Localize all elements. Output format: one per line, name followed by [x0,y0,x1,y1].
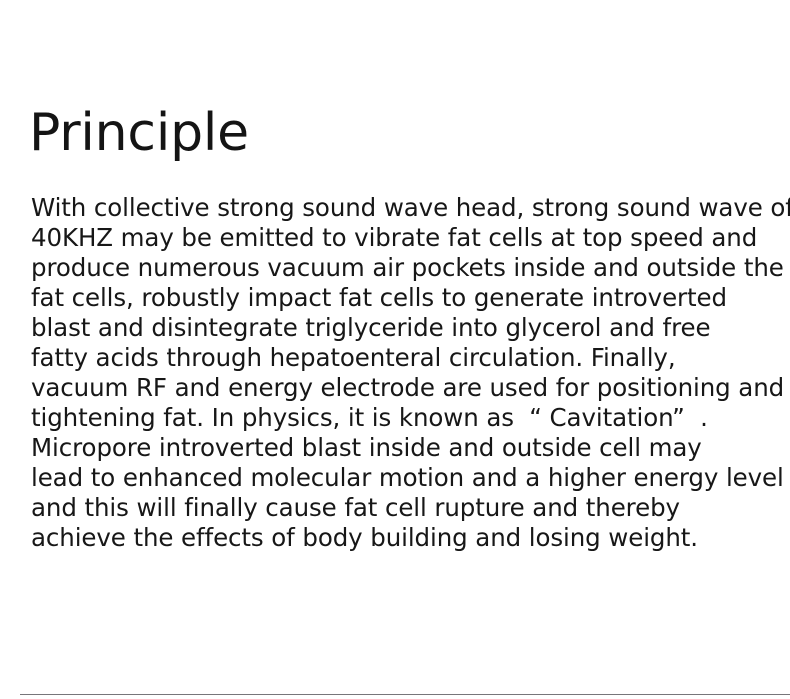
body-line: vacuum RF and energy electrode are used … [31,373,761,403]
slide-body-text: With collective strong sound wave head, … [31,193,761,553]
body-line: and this will finally cause fat cell rup… [31,493,761,523]
presentation-slide: Principle With collective strong sound w… [0,0,790,699]
body-line: tightening fat. In physics, it is known … [31,403,761,433]
page-title: Principle [29,101,249,165]
body-line: achieve the effects of body building and… [31,523,761,553]
body-line: fat cells, robustly impact fat cells to … [31,283,761,313]
body-line: lead to enhanced molecular motion and a … [31,463,761,493]
body-line: fatty acids through hepatoenteral circul… [31,343,761,373]
body-line: blast and disintegrate triglyceride into… [31,313,761,343]
body-line: With collective strong sound wave head, … [31,193,761,223]
body-line: produce numerous vacuum air pockets insi… [31,253,761,283]
body-line: 40KHZ may be emitted to vibrate fat cell… [31,223,761,253]
footer-divider [20,694,790,695]
body-line: Micropore introverted blast inside and o… [31,433,761,463]
